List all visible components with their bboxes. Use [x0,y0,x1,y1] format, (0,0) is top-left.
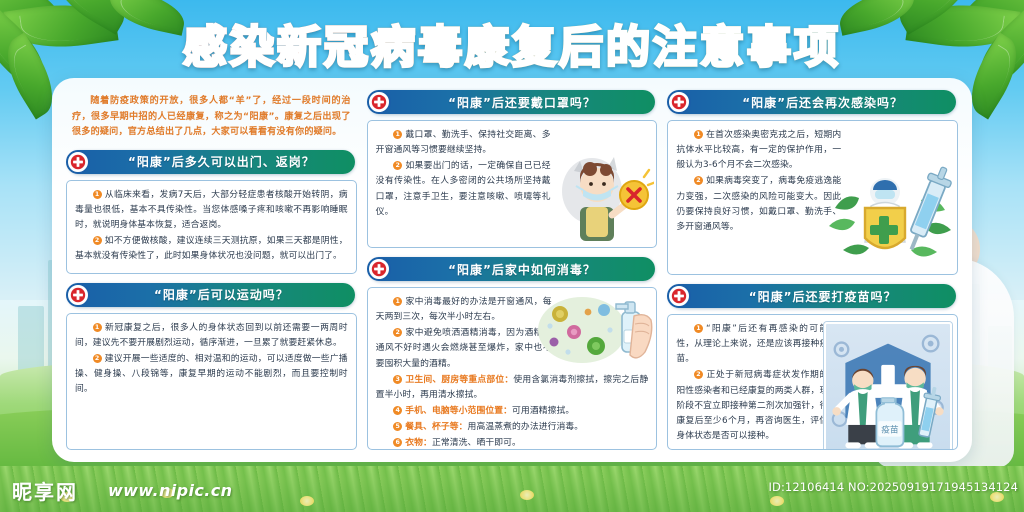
vaccine-illustration-frame: 疫苗 [824,322,952,450]
section-title: “阳康”后还要打疫苗吗？ [729,288,897,305]
watermark-bar: 昵享网 www.nipic.cn ID:12106414 NO:20250919… [0,466,1024,512]
list-item: 1在首次感染奥密克戎之后，短期内抗体水平比较高，有一定的保护作用，一般认为3-6… [676,128,841,173]
section-body-vaccine: 1“阳康”后还有再感染的可能性，从理论上来说，还是应该再接种疫苗。 2正处于新冠… [667,314,958,450]
item-number: 1 [393,130,402,139]
item-number: 3 [393,375,402,384]
item-number: 2 [393,328,402,337]
list-item: 2建议开展一些适度的、相对温和的运动，可以适度做一些广播操、健身操、八段锦等，康… [75,352,348,397]
item-keyword: 衣物： [405,438,432,448]
item-number: 1 [393,297,402,306]
section-title: “阳康”后多久可以出门、返岗？ [108,153,315,170]
two-doctors-illustration: 疫苗 [826,324,950,450]
masked-girl-illustration [550,141,654,245]
item-text: 可用酒精擦拭。 [512,406,574,416]
item-keyword: 卫生间、厨房等重点部位： [405,375,513,385]
column-middle: “阳康”后还要戴口罩吗？ 1戴口罩、勤洗手、保持社交距离、多开窗通风等习惯要继续… [367,88,658,450]
list-item: 3卫生间、厨房等重点部位：使用含氯消毒剂擦拭，擦完之后静置半小时，再用清水擦拭。 [376,373,649,403]
item-number: 1 [93,190,102,199]
item-text: 家中避免喷洒酒精消毒，因为酒精在通风不好时遇火会燃烧甚至爆炸，家中也不要囤积大量… [376,328,552,368]
poster-title-container: 感染新冠病毒康复后的注意事项 [0,14,1024,72]
item-number: 1 [694,324,703,333]
item-number: 2 [93,354,102,363]
list-item: 1戴口罩、勤洗手、保持社交距离、多开窗通风等习惯要继续坚持。 [376,128,551,158]
content-panel: 随着防疫政策的开放，很多人都“羊”了，经过一段时间的治疗，很多早期中招的人已经康… [52,78,972,462]
list-item: 1“阳康”后还有再感染的可能性，从理论上来说，还是应该再接种疫苗。 [676,322,828,367]
section-header-vaccine: “阳康”后还要打疫苗吗？ [669,284,956,308]
section-body-return-to-work: 1从临床来看，发病7天后，大部分轻症患者核酸开始转阴，病毒量也很低，基本不具传染… [66,180,357,274]
list-item: 4手机、电脑等小范围位置：可用酒精擦拭。 [376,404,649,419]
column-left: 随着防疫政策的开放，很多人都“羊”了，经过一段时间的治疗，很多早期中招的人已经康… [66,88,357,450]
list-item: 2如果要出门的话，一定确保自己已经没有传染性。在人多密闭的公共场所坚持戴口罩，注… [376,159,551,220]
item-text: 从临床来看，发病7天后，大部分轻症患者核酸开始转阴，病毒量也很低，基本不具传染性… [75,190,348,230]
item-text: 用高温蒸煮的办法进行消毒。 [468,422,584,432]
item-text: 家中消毒最好的办法是开窗通风，每天两到三次，每次半小时左右。 [376,297,552,322]
item-number: 2 [93,236,102,245]
item-number: 2 [694,176,703,185]
intro-paragraph: 随着防疫政策的开放，很多人都“羊”了，经过一段时间的治疗，很多早期中招的人已经康… [66,88,357,141]
list-item: 1家中消毒最好的办法是开窗通风，每天两到三次，每次半小时左右。 [376,295,552,325]
list-item: 2如不方便做核酸，建议连续三天测抗原，如果三天都是阴性，基本就没有传染性了，此时… [75,234,348,264]
svg-text:疫苗: 疫苗 [881,424,899,436]
section-header-exercise: “阳康”后可以运动吗？ [68,283,355,307]
item-text: 建议开展一些适度的、相对温和的运动，可以适度做一些广播操、健身操、八段锦等，康复… [75,354,348,394]
section-body-mask: 1戴口罩、勤洗手、保持社交距离、多开窗通风等习惯要继续坚持。 2如果要出门的话，… [367,120,658,248]
section-body-disinfect: 1家中消毒最好的办法是开窗通风，每天两到三次，每次半小时左右。 2家中避免喷洒酒… [367,287,658,450]
column-right: “阳康”后还会再次感染吗？ 1在首次感染奥密克戎之后，短期内抗体水平比较高，有一… [667,88,958,450]
item-number: 6 [393,438,402,447]
list-item: 1新冠康复之后，很多人的身体状态回到以前还需要一两周时间，建议先不要开展剧烈运动… [75,321,348,351]
section-title: “阳康”后家中如何消毒？ [428,261,596,278]
item-text: 如不方便做核酸，建议连续三天测抗原，如果三天都是阴性，基本就没有传染性了，此时如… [75,236,348,261]
list-item: 6衣物：正常清洗、晒干即可。 [376,436,649,450]
red-cross-icon [367,90,391,114]
poster-title: 感染新冠病毒康复后的注意事项 [183,11,841,75]
list-item: 2如果病毒突变了，病毒免疫逃逸能力变强，二次感染的风险可能变大。因此仍要保持良好… [676,174,841,235]
red-cross-icon [667,284,691,308]
section-header-mask: “阳康”后还要戴口罩吗？ [369,90,656,114]
section-title: “阳康”后还要戴口罩吗？ [428,94,596,111]
item-text: 如果病毒突变了，病毒免疫逃逸能力变强，二次感染的风险可能变大。因此仍要保持良好习… [676,176,841,231]
section-title: “阳康”后还会再次感染吗？ [722,94,903,111]
item-text: 新冠康复之后，很多人的身体状态回到以前还需要一两周时间，建议先不要开展剧烈运动，… [75,323,348,348]
item-keyword: 餐具、杯子等： [405,422,467,432]
section-body-exercise: 1新冠康复之后，很多人的身体状态回到以前还需要一两周时间，建议先不要开展剧烈运动… [66,313,357,450]
item-number: 1 [93,323,102,332]
watermark-id: ID:12106414 NO:20250919171945134124 [769,480,1018,494]
item-number: 1 [694,130,703,139]
item-text: 正处于新冠病毒症状发作期的阳性感染者和已经康复的两类人群，现阶段不宜立即接种第二… [676,370,828,441]
item-number: 4 [393,406,402,415]
red-cross-icon [367,257,391,281]
red-cross-icon [66,283,90,307]
red-cross-icon [66,150,90,174]
watermark-logo: 昵享网 [12,476,78,505]
section-header-disinfect: “阳康”后家中如何消毒？ [369,257,656,281]
section-body-reinfection: 1在首次感染奥密克戎之后，短期内抗体水平比较高，有一定的保护作用，一般认为3-6… [667,120,958,275]
red-cross-icon [667,90,691,114]
item-keyword: 手机、电脑等小范围位置： [405,406,512,416]
list-item: 2正处于新冠病毒症状发作期的阳性感染者和已经康复的两类人群，现阶段不宜立即接种第… [676,368,828,444]
item-number: 2 [393,161,402,170]
shield-syringe-illustration [827,164,955,272]
item-text: 正常清洗、晒干即可。 [432,438,521,448]
section-header-return-to-work: “阳康”后多久可以出门、返岗？ [68,150,355,174]
item-number: 5 [393,422,402,431]
item-text: 如果要出门的话，一定确保自己已经没有传染性。在人多密闭的公共场所坚持戴口罩，注意… [376,161,551,216]
item-number: 2 [694,370,703,379]
watermark-url: www.nipic.cn [108,481,232,500]
section-header-reinfection: “阳康”后还会再次感染吗？ [669,90,956,114]
list-item: 1从临床来看，发病7天后，大部分轻症患者核酸开始转阴，病毒量也很低，基本不具传染… [75,188,348,233]
list-item: 2家中避免喷洒酒精消毒，因为酒精在通风不好时遇火会燃烧甚至爆炸，家中也不要囤积大… [376,326,552,371]
section-title: “阳康”后可以运动吗？ [134,286,289,303]
list-item: 5餐具、杯子等：用高温蒸煮的办法进行消毒。 [376,420,649,435]
